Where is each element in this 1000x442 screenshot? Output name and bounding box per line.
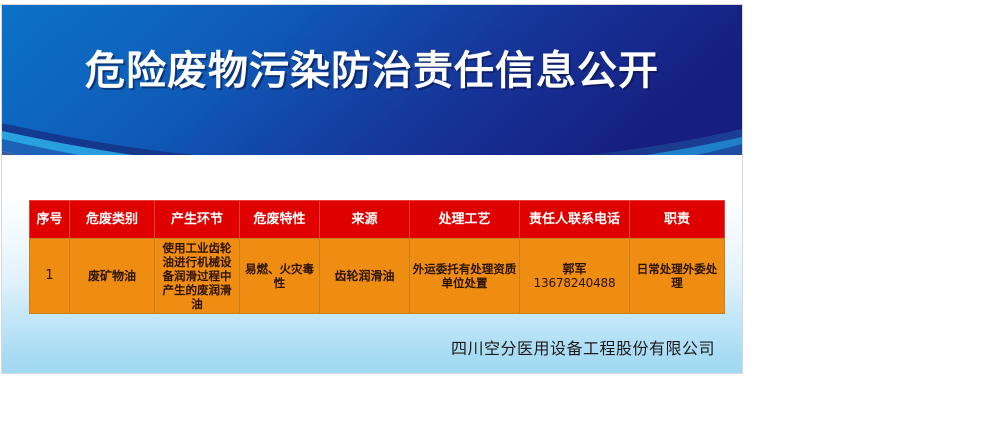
contact-person-name: 郭军 [522,262,627,276]
column-header-duty: 职责 [630,201,725,239]
column-header-hazard: 危废特性 [240,201,320,239]
cell-process: 外运委托有处理资质单位处置 [410,239,520,314]
column-header-seq: 序号 [30,201,70,239]
cell-contact: 郭军 13678240488 [520,239,630,314]
information-disclosure-poster: 危险废物污染防治责任信息公开 序号 危废类别 产生环节 危废特性 来源 处理工艺… [2,5,742,373]
cell-source: 齿轮润滑油 [320,239,410,314]
column-header-category: 危废类别 [70,201,155,239]
contact-person-phone: 13678240488 [522,276,627,290]
table-row: 1 废矿物油 使用工业齿轮油进行机械设备润滑过程中产生的废润滑油 易燃、火灾毒性… [30,239,725,314]
hazardous-waste-table: 序号 危废类别 产生环节 危废特性 来源 处理工艺 责任人联系电话 职责 1 废… [29,200,725,314]
cell-duty: 日常处理外委处理 [630,239,725,314]
column-header-contact: 责任人联系电话 [520,201,630,239]
page-title: 危险废物污染防治责任信息公开 [2,51,742,91]
company-name: 四川空分医用设备工程股份有限公司 [2,335,715,359]
column-header-stage: 产生环节 [155,201,240,239]
cell-hazard: 易燃、火灾毒性 [240,239,320,314]
column-header-process: 处理工艺 [410,201,520,239]
table-header-row: 序号 危废类别 产生环节 危废特性 来源 处理工艺 责任人联系电话 职责 [30,201,725,239]
poster-banner: 危险废物污染防治责任信息公开 [2,5,742,165]
cell-category: 废矿物油 [70,239,155,314]
cell-seq: 1 [30,239,70,314]
column-header-source: 来源 [320,201,410,239]
cell-stage: 使用工业齿轮油进行机械设备润滑过程中产生的废润滑油 [155,239,240,314]
